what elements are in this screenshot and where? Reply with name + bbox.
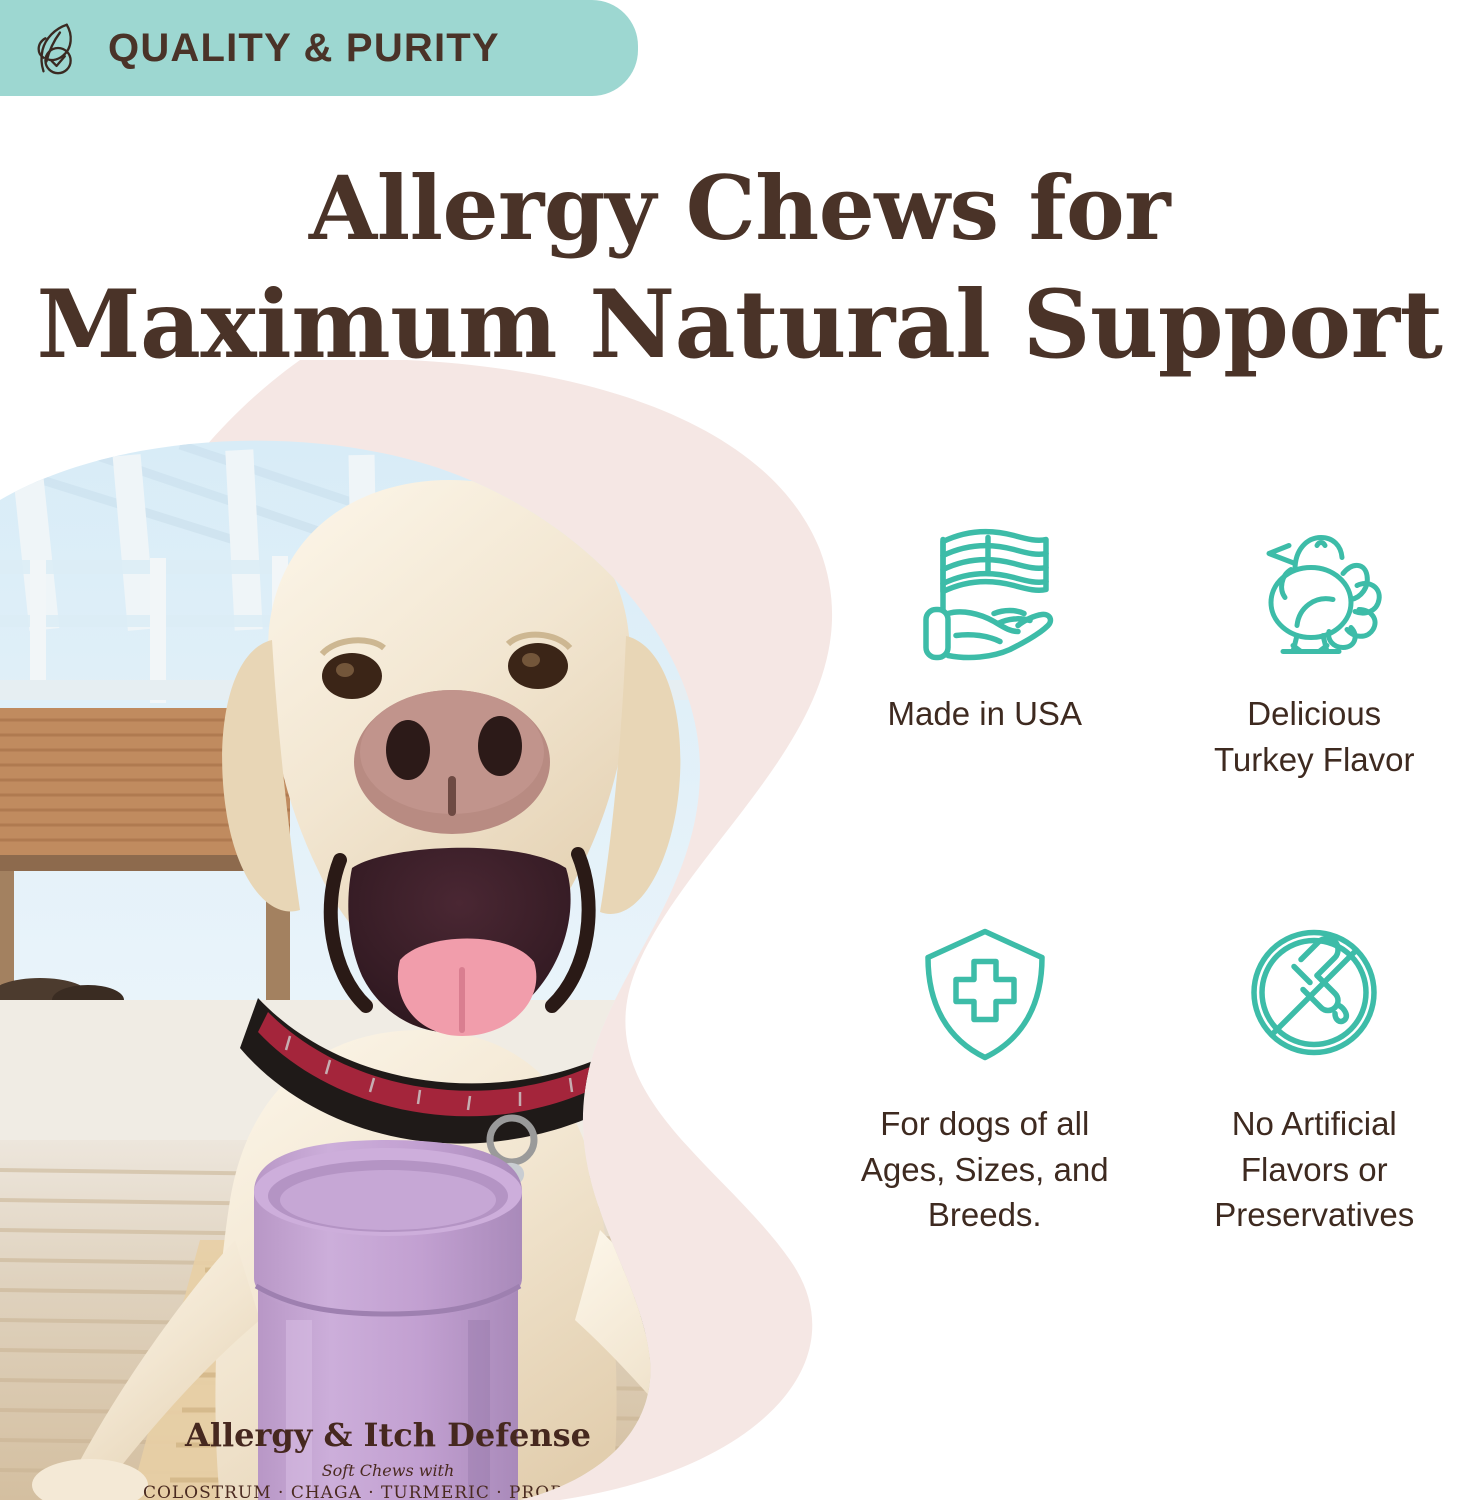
no-dropper-icon [1239,910,1389,1075]
label-line: Preservatives [1214,1192,1414,1238]
label-line: Breeds. [861,1192,1109,1238]
feature-grid: Made in USA Del [820,500,1479,1330]
label-line: Flavors or [1214,1147,1414,1193]
headline-line-2: Maximum Natural Support [0,265,1479,385]
lifestyle-photo: Allergy & Itch Defense Soft Chews with C… [0,440,880,1500]
feature-made-in-usa: Made in USA [820,500,1150,900]
shield-cross-icon [910,910,1060,1075]
label-line: For dogs of all [861,1101,1109,1147]
svg-text:COLOSTRUM · CHAGA · TURMERIC ·: COLOSTRUM · CHAGA · TURMERIC · PROBIOTIC… [143,1483,633,1500]
label-line: Made in USA [888,695,1082,732]
feature-label-made-in-usa: Made in USA [888,691,1082,737]
label-line: No Artificial [1214,1101,1414,1147]
page-headline: Allergy Chews for Maximum Natural Suppor… [0,152,1479,385]
svg-text:Allergy & Itch Defense: Allergy & Itch Defense [184,1416,591,1454]
quality-purity-badge: QUALITY & PURITY [0,0,638,96]
quality-purity-label: QUALITY & PURITY [108,26,500,71]
feature-no-artificial: No Artificial Flavors or Preservatives [1150,900,1479,1300]
feature-label-turkey-flavor: Delicious Turkey Flavor [1214,691,1414,782]
label-line: Turkey Flavor [1214,737,1414,783]
feature-all-dogs: For dogs of all Ages, Sizes, and Breeds. [820,900,1150,1300]
label-line: Ages, Sizes, and [861,1147,1109,1193]
headline-line-1: Allergy Chews for [0,152,1479,265]
feature-turkey-flavor: Delicious Turkey Flavor [1150,500,1479,900]
label-line: Delicious [1214,691,1414,737]
feature-label-no-artificial: No Artificial Flavors or Preservatives [1214,1101,1414,1238]
feature-label-all-dogs: For dogs of all Ages, Sizes, and Breeds. [861,1101,1109,1238]
leaf-check-icon [28,17,90,79]
flag-in-hand-icon [910,510,1060,675]
svg-text:Soft Chews with: Soft Chews with [322,1461,455,1480]
turkey-icon [1239,510,1389,675]
